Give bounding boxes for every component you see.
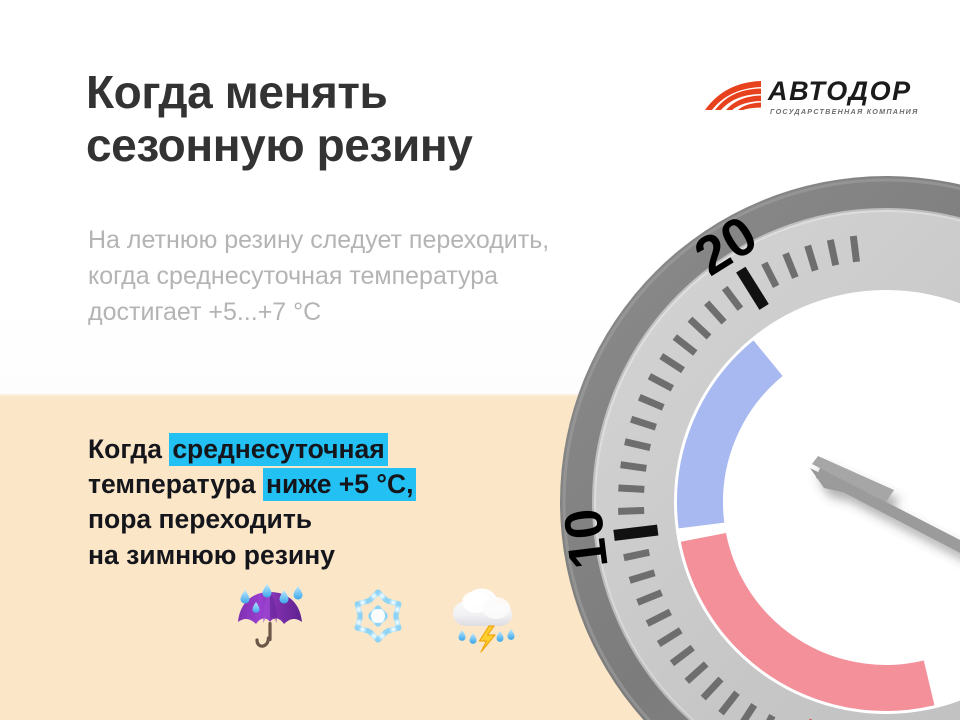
page-title: Когда менять сезонную резину [86, 66, 646, 173]
message-line-1: Когда среднесуточная [88, 432, 518, 467]
top-background-panel [0, 0, 960, 394]
logo-subtitle: ГОСУДАРСТВЕННАЯ КОМПАНИЯ [770, 107, 919, 116]
logo-wordmark: АВТОДОР [768, 76, 912, 107]
message-line-1-highlight: среднесуточная [169, 433, 387, 466]
infographic-canvas: 20 10 0 -10 Когда менять сезонную резину… [0, 0, 960, 720]
avtodor-logo[interactable]: АВТОДОР ГОСУДАРСТВЕННАЯ КОМПАНИЯ [702, 76, 898, 126]
message-line-1-plain: Когда [88, 434, 169, 464]
snowflake-icon [340, 578, 416, 654]
message-line-2: температура ниже +5 °C, [88, 467, 518, 502]
weather-icon-row [232, 578, 524, 654]
message-line-3: пора переходить [88, 502, 518, 537]
umbrella-with-rain-icon [232, 578, 308, 654]
message-line-2-plain: температура [88, 469, 263, 499]
avtodor-swoosh-icon [702, 80, 764, 112]
winter-tyre-message: Когда среднесуточная температура ниже +5… [88, 432, 518, 573]
lead-paragraph: На летнюю резину следует переходить, ког… [88, 222, 728, 330]
message-line-2-highlight: ниже +5 °C, [263, 468, 417, 501]
cloud-with-lightning-and-rain-icon [448, 578, 524, 654]
message-line-4: на зимнюю резину [88, 538, 518, 573]
